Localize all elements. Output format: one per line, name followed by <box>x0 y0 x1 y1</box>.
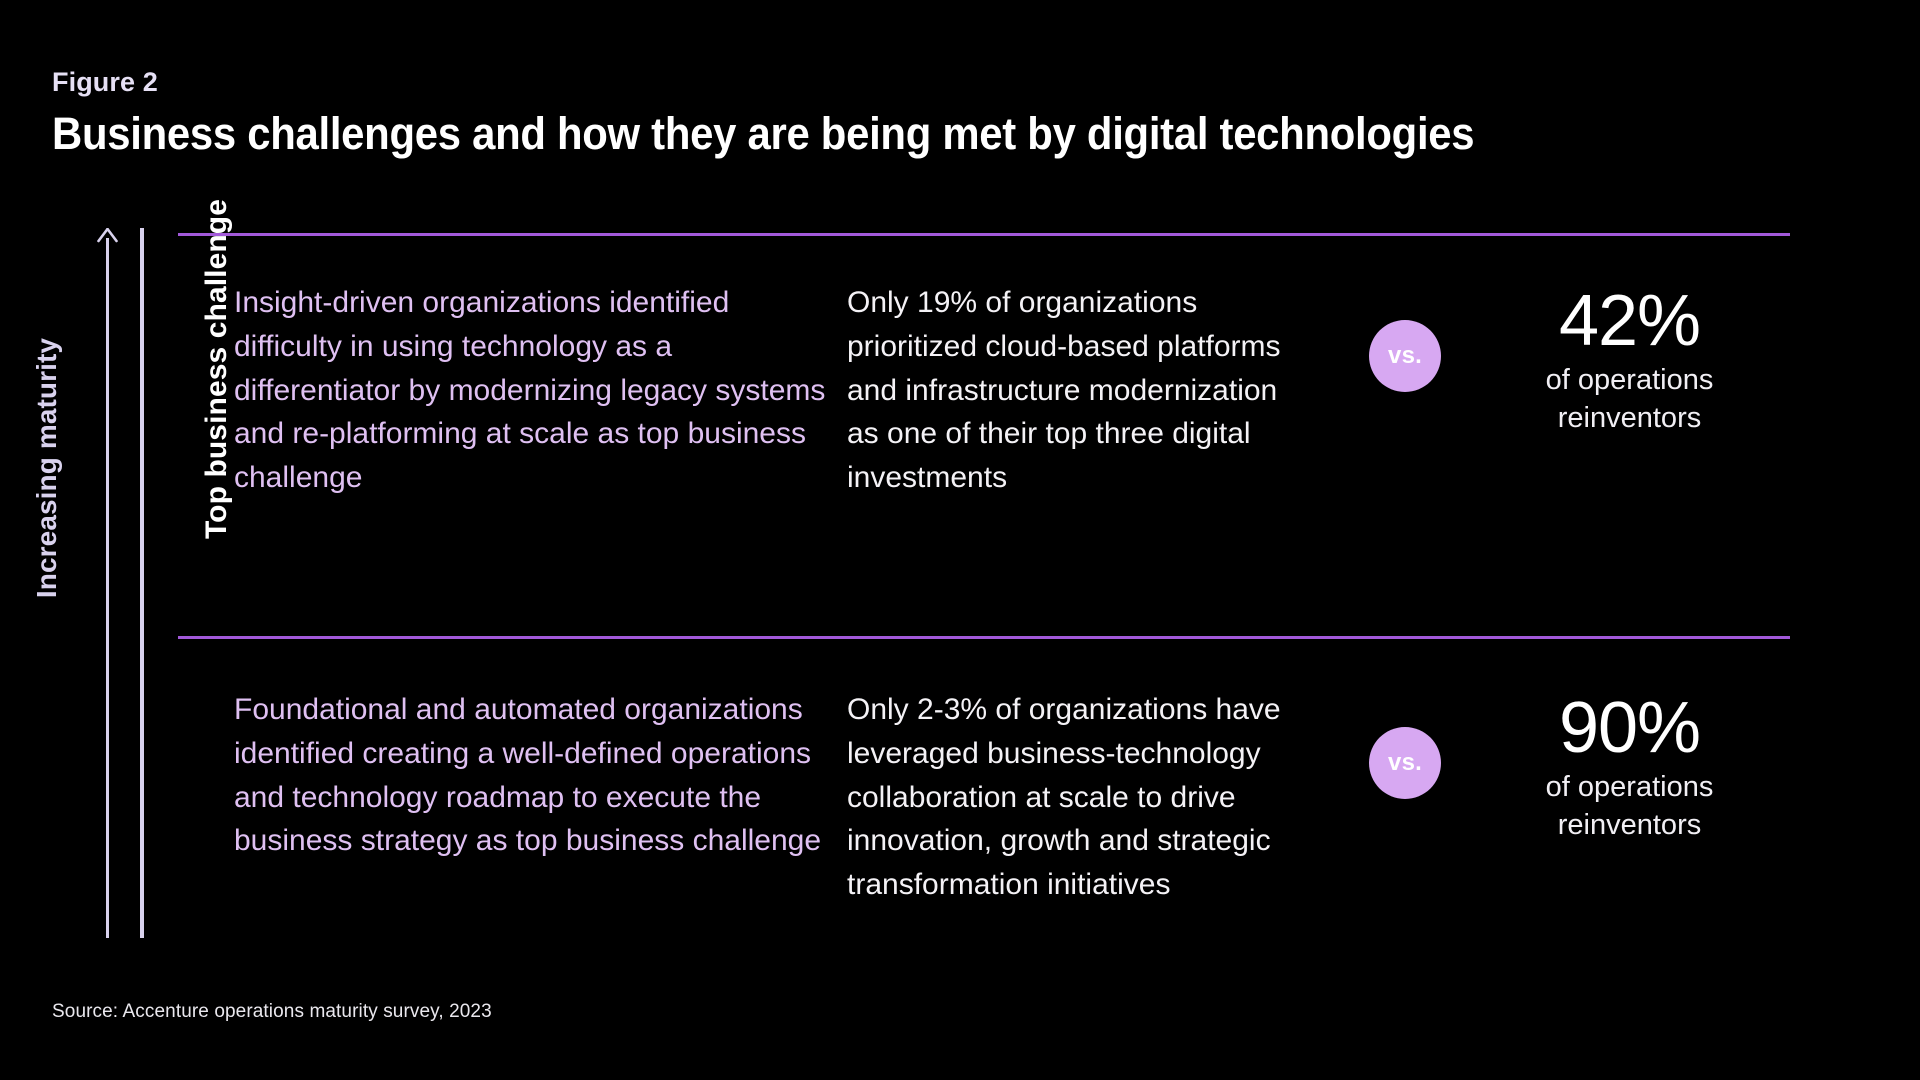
vs-badge-container: vs. <box>1325 688 1485 799</box>
matrix-row: Insight-driven organizations identified … <box>234 281 1794 500</box>
matrix-row: Foundational and automated organizations… <box>234 688 1794 907</box>
up-arrow-icon <box>97 228 118 248</box>
stat-block: 42% of operations reinventors <box>1485 281 1794 437</box>
vs-badge: vs. <box>1369 727 1441 799</box>
increasing-maturity-axis <box>96 228 118 938</box>
divider-top <box>178 233 1790 236</box>
vs-badge: vs. <box>1369 320 1441 392</box>
top-business-challenge-axis-line <box>140 228 144 938</box>
challenge-text: Foundational and automated organizations… <box>234 688 847 863</box>
figure-label: Figure 2 <box>52 68 1862 98</box>
finding-text: Only 2-3% of organizations have leverage… <box>847 688 1325 907</box>
stat-block: 90% of operations reinventors <box>1485 688 1794 844</box>
challenge-text: Insight-driven organizations identified … <box>234 281 847 500</box>
source-note: Source: Accenture operations maturity su… <box>52 1001 492 1023</box>
figure-header: Figure 2 Business challenges and how the… <box>52 68 1862 159</box>
stat-caption: of operations reinventors <box>1485 769 1774 843</box>
stat-value: 90% <box>1485 692 1774 765</box>
stat-value: 42% <box>1485 285 1774 358</box>
top-business-challenge-label: Top business challenge <box>200 149 234 589</box>
stat-caption: of operations reinventors <box>1485 362 1774 436</box>
axis-line <box>106 238 109 938</box>
vs-badge-container: vs. <box>1325 281 1485 392</box>
divider-middle <box>178 636 1790 639</box>
finding-text: Only 19% of organizations prioritized cl… <box>847 281 1325 500</box>
page-title: Business challenges and how they are bei… <box>52 109 1735 159</box>
increasing-maturity-label: Increasing maturity <box>31 318 63 618</box>
